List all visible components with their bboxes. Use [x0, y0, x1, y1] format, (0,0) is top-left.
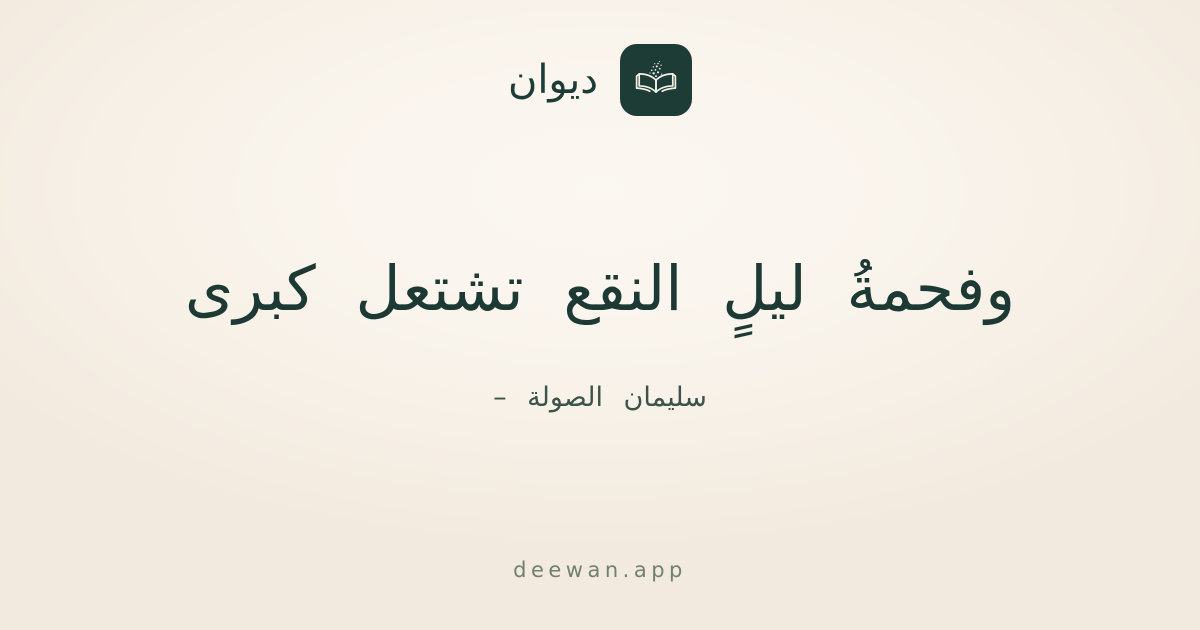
poetry-card: ديوان وفحمةُ ليلٍ النقع تشتعل كبرى سليما…	[0, 0, 1200, 630]
site-url: deewan.app	[513, 558, 687, 582]
attribution-text: سليمان الصولة –	[493, 379, 707, 417]
verse-text: وفحمةُ ليلٍ النقع تشتعل كبرى	[145, 243, 1055, 335]
brand-name: ديوان	[508, 60, 598, 100]
footer: deewan.app	[0, 558, 1200, 582]
verse-block: وفحمةُ ليلٍ النقع تشتعل كبرى سليمان الصو…	[0, 116, 1200, 630]
brand-header: ديوان	[508, 44, 692, 116]
deewan-logo-tile	[620, 44, 692, 116]
open-book-sparkles-icon	[631, 55, 681, 105]
